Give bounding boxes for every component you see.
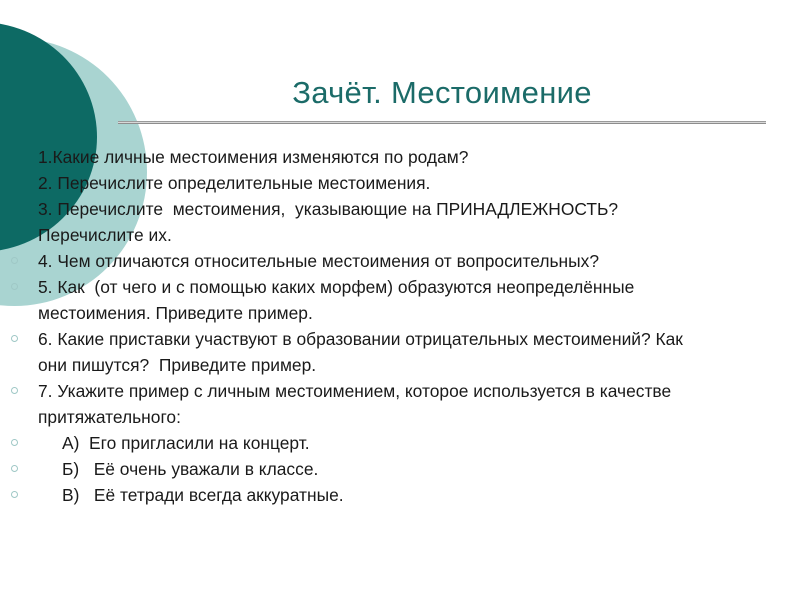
list-item: 5. Как (от чего и с помощью каких морфем… [0,274,800,326]
slide-canvas: Зачёт. Местоимение 1.Какие личные местои… [0,0,800,600]
page-title: Зачёт. Местоимение [118,74,766,112]
bullet-circle-icon [11,465,18,472]
question-list: 1.Какие личные местоимения изменяются по… [0,144,800,508]
list-item: 3. Перечислите местоимения, указывающие … [0,196,800,248]
bullet-circle-icon [11,335,18,342]
list-item: 2. Перечислите определительные местоимен… [0,170,800,196]
list-item-text: 4. Чем отличаются относительные местоиме… [0,248,800,274]
list-item-text: 1.Какие личные местоимения изменяются по… [0,144,800,170]
slide-header: Зачёт. Местоимение [118,74,766,124]
list-item: 1.Какие личные местоимения изменяются по… [0,144,800,170]
list-item-text: 2. Перечислите определительные местоимен… [0,170,800,196]
list-item: Б) Её очень уважали в классе. [0,456,800,482]
list-item-text: 5. Как (от чего и с помощью каких морфем… [0,274,800,326]
list-item: В) Её тетради всегда аккуратные. [0,482,800,508]
list-item: 4. Чем отличаются относительные местоиме… [0,248,800,274]
list-item-text: В) Её тетради всегда аккуратные. [0,482,800,508]
list-item-text: 7. Укажите пример с личным местоимением,… [0,378,800,430]
bullet-circle-icon [11,439,18,446]
list-item: 6. Какие приставки участвуют в образован… [0,326,800,378]
title-divider [118,121,766,124]
bullet-circle-icon [11,283,18,290]
bullet-circle-icon [11,387,18,394]
list-item-text: Б) Её очень уважали в классе. [0,456,800,482]
bullet-circle-icon [11,257,18,264]
list-item: А) Его пригласили на концерт. [0,430,800,456]
bullet-circle-icon [11,491,18,498]
list-item: 7. Укажите пример с личным местоимением,… [0,378,800,430]
list-item-text: 3. Перечислите местоимения, указывающие … [0,196,800,248]
list-item-text: 6. Какие приставки участвуют в образован… [0,326,800,378]
list-item-text: А) Его пригласили на концерт. [0,430,800,456]
